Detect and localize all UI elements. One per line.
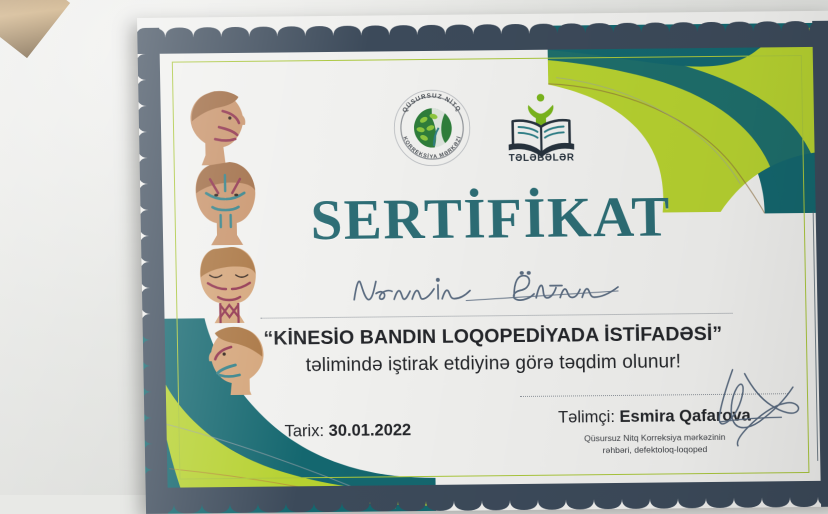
recipient-handwritten-signature [346, 267, 647, 310]
logo-row: QÜSURSUZ NİTQ KORREKSİYA MƏRKƏZİ TƏLƏBƏL… [390, 85, 611, 169]
face-front-neck-kinesio-tape [200, 247, 257, 324]
trainer-pen-signature [688, 363, 825, 449]
recipient-name-field[interactable] [260, 268, 733, 319]
trainer-label: Təlimçi: [558, 408, 615, 427]
issue-date: Tarix: 30.01.2022 [284, 421, 411, 441]
person-figure-icon [528, 94, 554, 126]
certificate-sheet: QÜSURSUZ NİTQ KORREKSİYA MƏRKƏZİ TƏLƏBƏL… [137, 11, 828, 514]
face-profile-right-kinesio-tape [190, 91, 246, 166]
qusursuz-nitq-korreksiya-merkezi-logo: QÜSURSUZ NİTQ KORREKSİYA MƏRKƏZİ [390, 86, 474, 169]
certificate-title: SERTİFİKAT [140, 187, 828, 251]
wood-surface-sliver [0, 0, 70, 58]
date-label: Tarix: [284, 422, 324, 440]
logo-academy-name: TƏLƏBƏLƏR [509, 153, 575, 165]
telebeler-akademiyasi-logo: TƏLƏBƏLƏR [500, 88, 581, 165]
date-value: 30.01.2022 [328, 421, 411, 440]
